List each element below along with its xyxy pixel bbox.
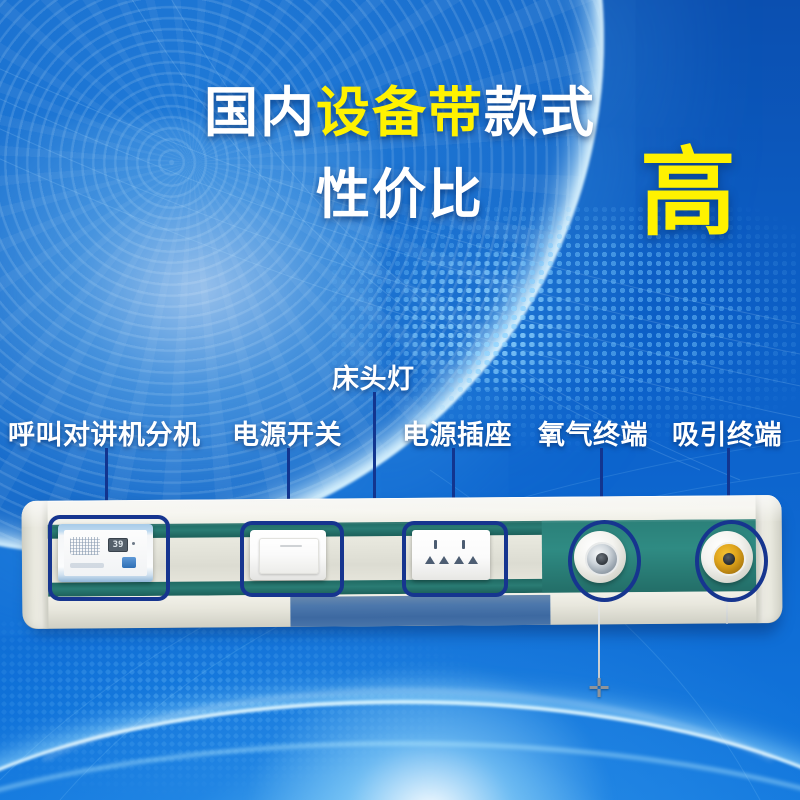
panel-bedside-lamp-diffuser xyxy=(290,595,550,627)
panel-end-cap-left xyxy=(22,501,49,629)
highlight-box-nurse-call xyxy=(48,515,170,601)
poster-canvas: 国内设备带款式 性价比 高 呼叫对讲机分机 电源开关 床头灯 电源插座 氧气终端… xyxy=(0,0,800,800)
pull-cord[interactable] xyxy=(598,600,600,682)
callout-label-power-switch: 电源开关 xyxy=(232,413,342,452)
world-map-dots-dense xyxy=(392,250,582,390)
callout-label-nurse-call: 呼叫对讲机分机 xyxy=(8,413,201,452)
highlight-box-power-socket xyxy=(402,521,508,597)
callout-label-oxygen-terminal: 氧气终端 xyxy=(538,413,648,452)
horizon-glow xyxy=(220,640,640,800)
highlight-circle-suction-terminal xyxy=(695,520,768,602)
highlight-circle-oxygen-terminal xyxy=(568,520,641,602)
pull-cord-weight-icon[interactable]: ✛ xyxy=(588,676,610,700)
callout-label-power-socket: 电源插座 xyxy=(402,413,512,452)
callout-label-suction-terminal: 吸引终端 xyxy=(672,413,782,452)
highlight-box-power-switch xyxy=(240,521,344,597)
callout-label-bedside-lamp: 床头灯 xyxy=(332,357,415,396)
pull-cord-secondary[interactable] xyxy=(726,600,728,624)
